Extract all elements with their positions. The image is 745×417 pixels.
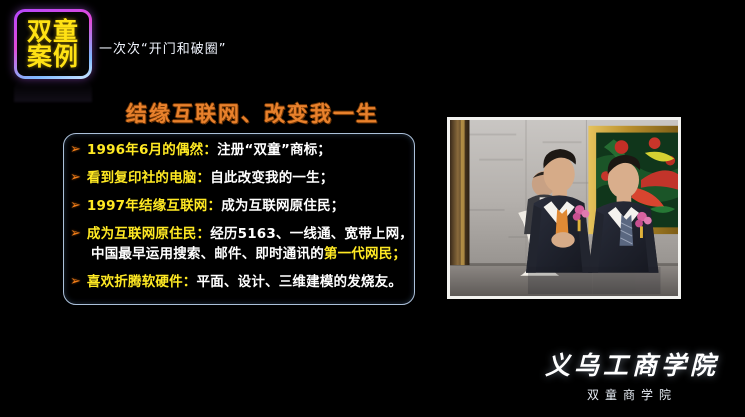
photograph-illustration xyxy=(450,120,678,296)
brand-badge-inner: 双童 案例 xyxy=(17,12,89,76)
bullet-rest: 自此改变我的一生； xyxy=(210,170,333,186)
bullet-rest: 平面、设计、三维建模的发烧友。 xyxy=(197,274,403,290)
bullet-rest: 成为互联网原住民； xyxy=(221,198,344,214)
list-item: ➢ 看到复印社的电脑：自此改变我的一生； xyxy=(70,168,420,188)
brand-badge: 双童 案例 xyxy=(14,9,92,79)
bullet-highlight: 1997年结缘互联网： xyxy=(87,198,221,214)
bullet-list: ➢ 1996年6月的偶然：注册“双童”商标； ➢ 看到复印社的电脑：自此改变我的… xyxy=(70,140,420,292)
arrow-bullet-icon: ➢ xyxy=(70,224,81,244)
bullet-continuation-highlight: 第一代网民； xyxy=(324,246,406,262)
school-logo: 义乌工商学院 双童商学院 xyxy=(537,346,727,403)
bullet-rest: 经历5163、一线通、宽带上网， xyxy=(210,226,413,242)
bullet-highlight: 成为互联网原住民： xyxy=(87,226,210,242)
brand-badge-reflection xyxy=(14,80,92,102)
list-item: ➢ 1997年结缘互联网：成为互联网原住民； xyxy=(70,196,420,216)
brand-badge-line-1: 双童 xyxy=(27,19,79,45)
list-item: ➢ 喜欢折腾软硬件：平面、设计、三维建模的发烧友。 xyxy=(70,272,420,292)
photograph xyxy=(447,117,681,299)
arrow-bullet-icon: ➢ xyxy=(70,140,81,160)
slide-subtitle: 一次次“开门和破圈” xyxy=(99,38,226,57)
page-title: 结缘互联网、改变我一生 xyxy=(126,98,379,128)
bullet-continuation-line: 中国最早运用搜索、邮件、即时通讯的第一代网民； xyxy=(70,244,420,264)
bullet-highlight: 1996年6月的偶然： xyxy=(87,142,217,158)
photo-block xyxy=(447,117,681,299)
bullet-highlight: 看到复印社的电脑： xyxy=(87,170,210,186)
bullet-text: 1997年结缘互联网：成为互联网原住民； xyxy=(87,196,345,216)
school-logo-main: 义乌工商学院 xyxy=(537,346,727,382)
list-item: ➢ 成为互联网原住民：经历5163、一线通、宽带上网， 中国最早运用搜索、邮件、… xyxy=(70,224,420,264)
brand-badge-line-2: 案例 xyxy=(27,44,79,70)
arrow-bullet-icon: ➢ xyxy=(70,168,81,188)
arrow-bullet-icon: ➢ xyxy=(70,272,81,292)
arrow-bullet-icon: ➢ xyxy=(70,196,81,216)
bullet-first-line: ➢ 成为互联网原住民：经历5163、一线通、宽带上网， xyxy=(70,224,420,244)
bullet-text: 1996年6月的偶然：注册“双童”商标； xyxy=(87,140,331,160)
bullet-continuation-rest: 中国最早运用搜索、邮件、即时通讯的 xyxy=(91,246,324,262)
bullet-text: 成为互联网原住民：经历5163、一线通、宽带上网， xyxy=(87,224,413,244)
bullet-text: 喜欢折腾软硬件：平面、设计、三维建模的发烧友。 xyxy=(87,272,402,292)
bullet-rest: 注册“双童”商标； xyxy=(217,142,331,158)
list-item: ➢ 1996年6月的偶然：注册“双童”商标； xyxy=(70,140,420,160)
bullet-highlight: 喜欢折腾软硬件： xyxy=(87,274,197,290)
slide-canvas: 双童 案例 一次次“开门和破圈” 结缘互联网、改变我一生 ➢ 1996年6月的偶… xyxy=(0,0,745,417)
school-logo-sub: 双童商学院 xyxy=(537,386,727,403)
bullet-text: 看到复印社的电脑：自此改变我的一生； xyxy=(87,168,334,188)
